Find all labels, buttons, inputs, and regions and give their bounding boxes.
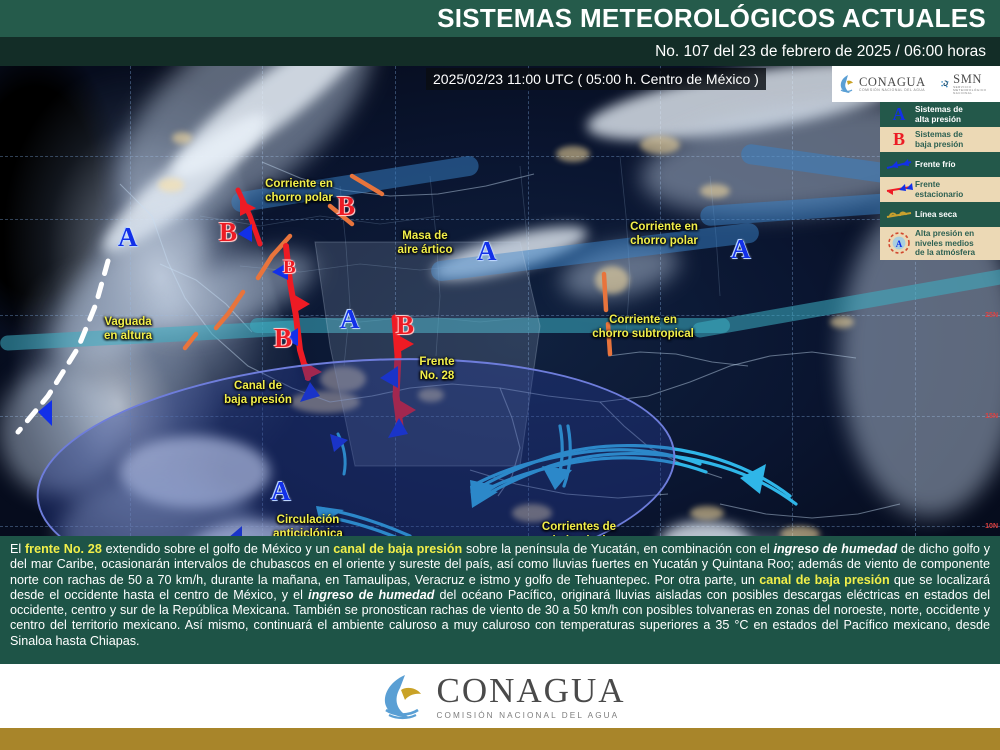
dry-line: [604, 274, 606, 310]
footer-gold-bar: [0, 728, 1000, 750]
map-label-vaguada-en-altura: Vaguada en altura: [78, 316, 178, 343]
dry-line-icon: [883, 208, 915, 222]
highlight-canal-baja-presion-1: canal de baja presión: [333, 542, 462, 556]
coordinate-tick: 15N: [985, 413, 998, 420]
conagua-tagline: COMISIÓN NACIONAL DEL AGUA: [859, 89, 926, 92]
conagua-wordmark: CONAGUA: [859, 76, 926, 89]
low-pressure-marker: B: [274, 325, 292, 352]
legend-label: Sistemas de alta presión: [915, 105, 963, 124]
highlight-frente-28: frente No. 28: [25, 542, 102, 556]
summary-seg: sobre la península de Yucatán, en combin…: [462, 542, 773, 556]
map-label-corrientes-bajo-nivel: Corrientes de bajo nivel: [524, 521, 634, 536]
upper-level-trough-dashed: [18, 261, 108, 432]
legend-label: Sistemas de baja presión: [915, 130, 963, 149]
conagua-tagline-footer: COMISIÓN NACIONAL DEL AGUA: [437, 711, 626, 720]
header-title-band: SISTEMAS METEOROLÓGICOS ACTUALES: [0, 0, 1000, 37]
emphasis-ingreso-humedad-1: ingreso de humedad: [773, 542, 897, 556]
legend-item-cold-front[interactable]: Frente frío: [880, 152, 1000, 177]
high-pressure-marker: A: [340, 306, 360, 333]
highlight-canal-baja-presion-2: canal de baja presión: [759, 573, 889, 587]
forecast-summary-panel: El frente No. 28 extendido sobre el golf…: [0, 536, 1000, 664]
mid-level-high-icon: A: [883, 231, 915, 255]
legend-item-stationary-front[interactable]: Frente estacionario: [880, 177, 1000, 202]
map-label-corriente-chorro-subtropical: Corriente en chorro subtropical: [578, 314, 708, 341]
map-label-canal-baja-presion: Canal de baja presión: [208, 380, 308, 407]
map-timestamp: 2025/02/23 11:00 UTC ( 05:00 h. Centro d…: [426, 68, 766, 90]
low-pressure-marker: B: [283, 258, 296, 277]
smn-wordmark: SMN: [953, 73, 994, 86]
coordinate-tick: 25N: [985, 312, 998, 319]
map-legend: A Sistemas de alta presión B Sistemas de…: [880, 102, 1000, 260]
summary-seg: extendido sobre el golfo de México y un: [102, 542, 333, 556]
legend-label: Alta presión en niveles medios de la atm…: [915, 229, 975, 258]
high-pressure-marker: A: [271, 478, 291, 505]
satellite-weather-map[interactable]: Vaguada en altura Corriente en chorro po…: [0, 66, 1000, 536]
header-subtitle-band: No. 107 del 23 de febrero de 2025 / 06:0…: [0, 37, 1000, 66]
map-label-frente-28: Frente No. 28: [404, 356, 470, 383]
map-label-masa-aire-artico: Masa de aire ártico: [380, 230, 470, 257]
letter-A-icon: A: [883, 104, 915, 125]
dry-line: [352, 176, 382, 194]
summary-seg: El: [10, 542, 25, 556]
legend-item-high-pressure[interactable]: A Sistemas de alta presión: [880, 102, 1000, 127]
page-title: SISTEMAS METEOROLÓGICOS ACTUALES: [437, 3, 1000, 34]
conagua-water-icon: [838, 73, 855, 95]
coordinate-tick: 10N: [985, 523, 998, 530]
legend-label: Frente frío: [915, 160, 956, 170]
conagua-logo: CONAGUA COMISIÓN NACIONAL DEL AGUA: [838, 73, 926, 95]
weather-bulletin-page: SISTEMAS METEOROLÓGICOS ACTUALES No. 107…: [0, 0, 1000, 750]
map-label-corriente-chorro-polar-este: Corriente en chorro polar: [608, 221, 720, 248]
conagua-wordmark-footer: CONAGUA: [437, 673, 626, 708]
low-pressure-marker: B: [219, 219, 237, 246]
stationary-front-icon: [883, 183, 915, 197]
agency-logo-strip: CONAGUA COMISIÓN NACIONAL DEL AGUA SMN S…: [832, 66, 1000, 102]
low-pressure-marker: B: [337, 193, 355, 220]
legend-label: Frente estacionario: [915, 180, 963, 199]
forecast-summary-text: El frente No. 28 extendido sobre el golf…: [10, 542, 990, 649]
map-label-circulacion-anticiclonica: Circulación anticiclónica en 500 hPa: [250, 514, 366, 536]
conagua-water-icon-footer: [375, 672, 425, 720]
legend-label: Línea seca: [915, 210, 957, 220]
emphasis-ingreso-humedad-2: ingreso de humedad: [308, 588, 434, 602]
smn-tagline: SERVICIO METEOROLÓGICO NACIONAL: [953, 86, 994, 95]
low-pressure-marker: B: [396, 312, 414, 339]
cold-front-icon: [883, 158, 915, 172]
svg-text:A: A: [896, 239, 903, 249]
high-pressure-marker: A: [118, 224, 138, 251]
high-pressure-marker: A: [477, 238, 497, 265]
letter-B-icon: B: [883, 129, 915, 150]
legend-item-low-pressure[interactable]: B Sistemas de baja presión: [880, 127, 1000, 152]
legend-item-dry-line[interactable]: Línea seca: [880, 202, 1000, 227]
smn-spiral-icon: [940, 75, 949, 93]
smn-logo: SMN SERVICIO METEOROLÓGICO NACIONAL: [940, 73, 994, 95]
bulletin-number-date: No. 107 del 23 de febrero de 2025 / 06:0…: [655, 43, 1000, 61]
footer-logo-area: CONAGUA COMISIÓN NACIONAL DEL AGUA: [0, 664, 1000, 728]
high-pressure-marker: A: [731, 236, 751, 263]
legend-item-mid-level-high[interactable]: A Alta presión en niveles medios de la a…: [880, 227, 1000, 260]
